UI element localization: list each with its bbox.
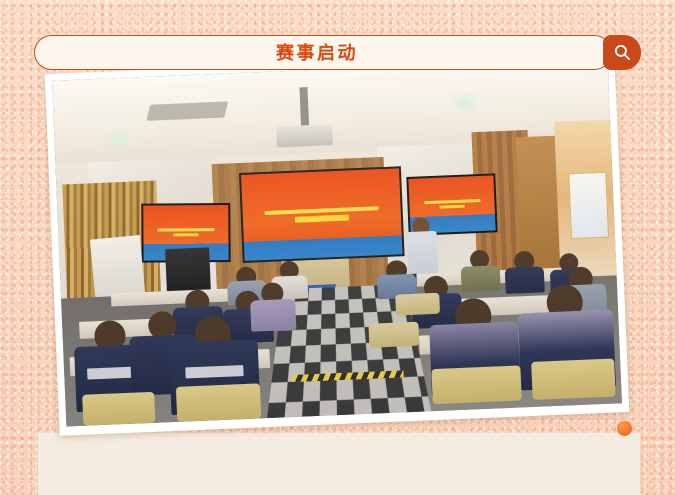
header: 赛事启动 xyxy=(34,35,641,70)
photo-right-tv-headline xyxy=(424,199,480,204)
photo-poster xyxy=(568,172,610,239)
photo-left-tv-subline xyxy=(174,233,200,237)
photo-attendee xyxy=(460,249,501,292)
photo-ceiling-light-2 xyxy=(448,91,482,113)
photo-main-screen-headline xyxy=(265,206,378,215)
photo-ceiling-light-1 xyxy=(104,129,132,147)
photo-uniform-logo xyxy=(185,365,244,379)
search-button[interactable] xyxy=(603,35,641,70)
page-title: 赛事启动 xyxy=(276,44,358,62)
page-root: 赛事启动 xyxy=(0,0,675,495)
photo-left-tv-headline xyxy=(158,229,214,232)
photo-chair xyxy=(531,358,616,400)
photo-ceiling-vent xyxy=(146,101,228,120)
photo-chair xyxy=(176,384,261,422)
photo-chair xyxy=(395,293,440,316)
event-photo xyxy=(52,58,622,427)
photo-uniform-logo xyxy=(87,367,135,379)
photo-projector xyxy=(276,124,332,147)
photo-right-tv-subline xyxy=(440,204,466,209)
event-photo-frame[interactable] xyxy=(45,50,630,436)
photo-main-screen xyxy=(239,167,404,264)
content-panel xyxy=(38,433,640,495)
photo-chair xyxy=(431,366,521,404)
orange-dot-accent xyxy=(617,421,632,436)
photo-chair xyxy=(368,322,419,348)
photo-main-screen-subline xyxy=(295,214,349,222)
search-icon xyxy=(613,43,632,62)
title-bar: 赛事启动 xyxy=(34,35,612,70)
photo-chair xyxy=(82,392,156,426)
